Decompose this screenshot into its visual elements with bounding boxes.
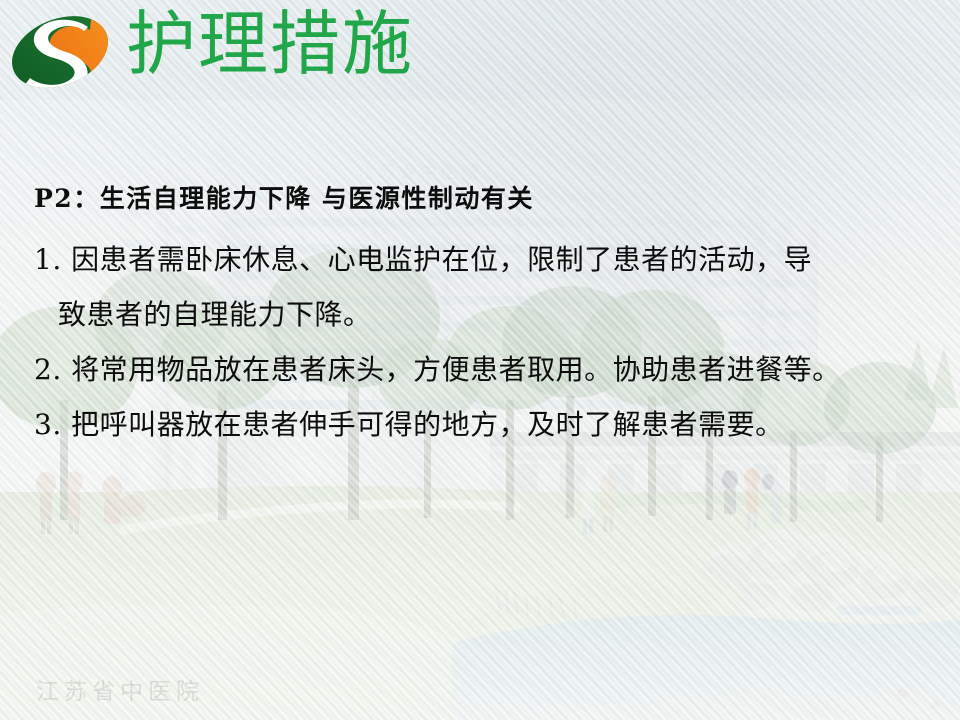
measure-line-1: 1. 因患者需卧床休息、心电监护在位，限制了患者的活动，导	[34, 232, 940, 287]
presentation-slide: 江苏省中医院	[0, 0, 960, 720]
measure-line-2: 2. 将常用物品放在患者床头，方便患者取用。协助患者进餐等。	[34, 342, 940, 397]
measure-line-1-continued: 致患者的自理能力下降。	[34, 287, 940, 342]
nursing-problem-heading: P2：生活自理能力下降 与医源性制动有关	[34, 182, 940, 216]
hospital-watermark: 江苏省中医院	[36, 672, 204, 706]
slide-body: P2：生活自理能力下降 与医源性制动有关 1. 因患者需卧床休息、心电监护在位，…	[34, 182, 940, 452]
page-title: 护理措施	[126, 9, 414, 79]
measure-line-3: 3. 把呼叫器放在患者伸手可得的地方，及时了解患者需要。	[34, 397, 940, 452]
jiangsu-hospital-s-logo-icon	[6, 8, 114, 96]
svg-text:江苏省中医院: 江苏省中医院	[357, 163, 483, 183]
